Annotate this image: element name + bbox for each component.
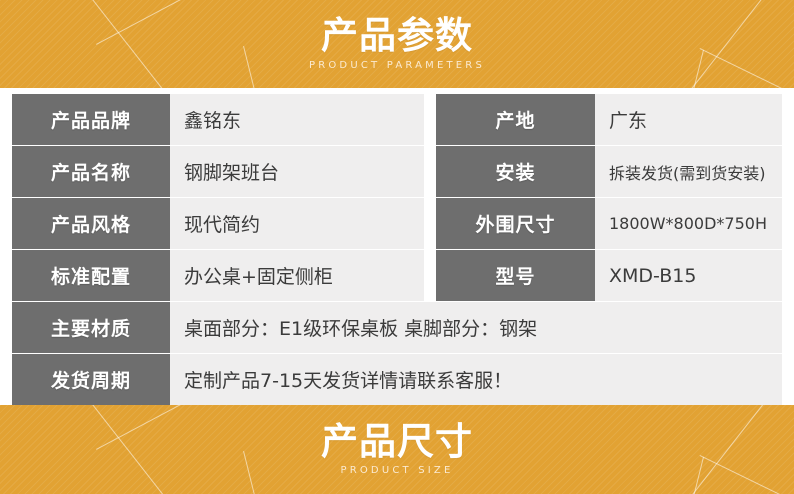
- spec-row: 标准配置办公桌+固定侧柜型号XMD-B15: [12, 250, 782, 302]
- banner-subtitle-bottom: PRODUCT SIZE: [340, 466, 453, 476]
- spec-right-value: 1800W*800D*750H: [595, 198, 782, 249]
- spec-left-value: 定制产品7-15天发货详情请联系客服！: [170, 354, 782, 405]
- spec-left-label: 主要材质: [12, 302, 170, 353]
- spec-column-gap: [424, 94, 436, 145]
- spec-right-label: 产地: [436, 94, 595, 145]
- spec-right-label: 外围尺寸: [436, 198, 595, 249]
- spec-row: 产品风格现代简约外围尺寸1800W*800D*750H: [12, 198, 782, 250]
- product-parameters-table: 产品品牌鑫铭东产地广东产品名称钢脚架班台安装拆装发货(需到货安装)产品风格现代简…: [0, 88, 794, 405]
- spec-row: 产品名称钢脚架班台安装拆装发货(需到货安装): [12, 146, 782, 198]
- banner-text-group-top: 产品参数 PRODUCT PARAMETERS: [0, 0, 794, 88]
- spec-right-value: 广东: [595, 94, 782, 145]
- banner-title-top: 产品参数: [321, 17, 473, 56]
- spec-row: 发货周期定制产品7-15天发货详情请联系客服！: [12, 354, 782, 406]
- spec-row: 主要材质桌面部分：E1级环保桌板 桌脚部分：钢架: [12, 302, 782, 354]
- spec-left-label: 产品风格: [12, 198, 170, 249]
- spec-rows-container: 产品品牌鑫铭东产地广东产品名称钢脚架班台安装拆装发货(需到货安装)产品风格现代简…: [12, 94, 782, 406]
- banner-text-group-bottom: 产品尺寸 PRODUCT SIZE: [0, 405, 794, 494]
- banner-subtitle-top: PRODUCT PARAMETERS: [309, 61, 485, 71]
- spec-right-label: 安装: [436, 146, 595, 197]
- product-size-banner: 产品尺寸 PRODUCT SIZE: [0, 405, 794, 494]
- spec-right-label: 型号: [436, 250, 595, 301]
- spec-left-value: 桌面部分：E1级环保桌板 桌脚部分：钢架: [170, 302, 782, 353]
- spec-left-value: 钢脚架班台: [170, 146, 424, 197]
- spec-left-value: 现代简约: [170, 198, 424, 249]
- spec-left-value: 办公桌+固定侧柜: [170, 250, 424, 301]
- spec-left-label: 发货周期: [12, 354, 170, 405]
- spec-left-label: 标准配置: [12, 250, 170, 301]
- banner-title-bottom: 产品尺寸: [321, 423, 473, 462]
- product-detail-page: 产品参数 PRODUCT PARAMETERS 产品品牌鑫铭东产地广东产品名称钢…: [0, 0, 794, 494]
- product-parameters-banner: 产品参数 PRODUCT PARAMETERS: [0, 0, 794, 88]
- spec-left-label: 产品品牌: [12, 94, 170, 145]
- spec-column-gap: [424, 250, 436, 301]
- spec-left-value: 鑫铭东: [170, 94, 424, 145]
- spec-right-value: XMD-B15: [595, 250, 782, 301]
- spec-right-value: 拆装发货(需到货安装): [595, 146, 782, 197]
- spec-column-gap: [424, 146, 436, 197]
- spec-row: 产品品牌鑫铭东产地广东: [12, 94, 782, 146]
- spec-column-gap: [424, 198, 436, 249]
- spec-left-label: 产品名称: [12, 146, 170, 197]
